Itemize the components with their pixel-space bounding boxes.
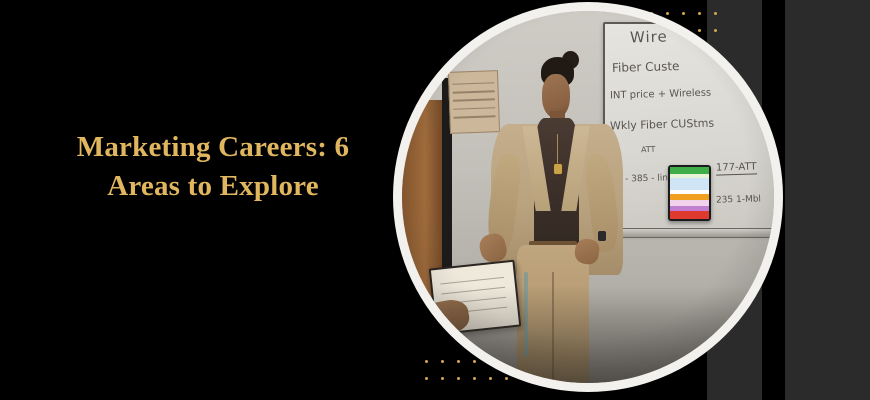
hero-photo: Wire Fiber Custe INT price + Wireless Wk… xyxy=(402,11,774,383)
necklace-chain xyxy=(557,134,558,163)
floor-shadow xyxy=(402,286,774,383)
whiteboard-text-7: 177-ATT xyxy=(715,161,756,175)
hero-photo-circle: Wire Fiber Custe INT price + Wireless Wk… xyxy=(393,2,783,392)
pendant xyxy=(554,164,562,174)
headline-line-1: Marketing Careers: 6 xyxy=(24,128,402,167)
photo-scene: Wire Fiber Custe INT price + Wireless Wk… xyxy=(402,11,774,383)
wall-tablet xyxy=(668,165,711,221)
decorative-panel-outer xyxy=(785,0,870,400)
wristwatch xyxy=(598,231,607,241)
banner: Marketing Careers: 6 Areas to Explore xyxy=(0,0,870,400)
whiteboard-text-8: 235 1-Mbl xyxy=(715,194,760,205)
headline-block: Marketing Careers: 6 Areas to Explore xyxy=(24,128,402,206)
headline-line-2: Areas to Explore xyxy=(24,167,402,206)
whiteboard-text-1: Wire xyxy=(630,28,668,47)
tablet-screen xyxy=(670,167,709,219)
